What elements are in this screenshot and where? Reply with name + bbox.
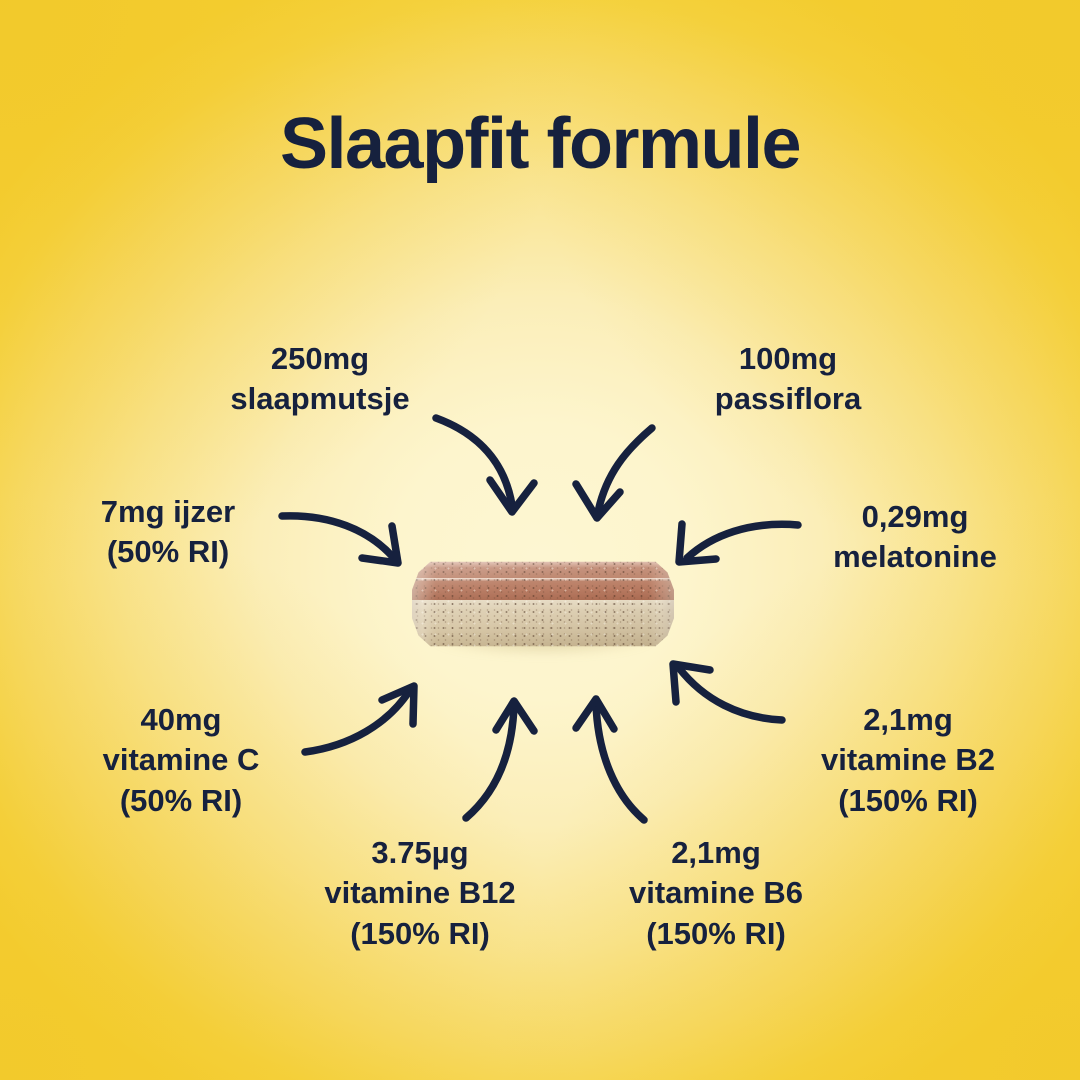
arrow-slaapmutsje — [436, 418, 534, 512]
label-melatonine-line-1: 0,29mg — [796, 497, 1034, 537]
label-passiflora-line-1: 100mg — [660, 339, 916, 379]
label-ijzer-line-1: 7mg ijzer — [50, 492, 286, 532]
page-title: Slaapfit formule — [0, 103, 1080, 185]
label-vitamine-b6-line-2: vitamine B6 — [588, 873, 844, 913]
arrow-passiflora — [576, 428, 652, 518]
label-vitamine-b12-line-1: 3.75µg — [288, 833, 552, 873]
label-vitamine-b6-line-1: 2,1mg — [588, 833, 844, 873]
arrow-ijzer — [282, 516, 398, 563]
label-ijzer-line-2: (50% RI) — [50, 532, 286, 572]
label-slaapmutsje-line-1: 250mg — [184, 339, 456, 379]
label-vitamine-b2-line-2: vitamine B2 — [782, 740, 1034, 780]
label-passiflora: 100mg passiflora — [660, 339, 916, 420]
tablet-body — [412, 560, 674, 648]
label-melatonine: 0,29mg melatonine — [796, 497, 1034, 578]
label-vitamine-b2-line-1: 2,1mg — [782, 700, 1034, 740]
product-tablet — [412, 560, 674, 650]
arrow-vitamine-b6 — [576, 699, 644, 820]
label-vitamine-c-line-2: vitamine C — [58, 740, 304, 780]
label-vitamine-b12-line-3: (150% RI) — [288, 914, 552, 954]
label-ijzer: 7mg ijzer (50% RI) — [50, 492, 286, 573]
label-vitamine-c-line-1: 40mg — [58, 700, 304, 740]
arrow-vitamine-b12 — [466, 701, 534, 818]
label-melatonine-line-2: melatonine — [796, 537, 1034, 577]
label-vitamine-c: 40mg vitamine C (50% RI) — [58, 700, 304, 821]
arrow-melatonine — [679, 524, 798, 562]
label-passiflora-line-2: passiflora — [660, 379, 916, 419]
label-vitamine-b6-line-3: (150% RI) — [588, 914, 844, 954]
label-vitamine-c-line-3: (50% RI) — [58, 781, 304, 821]
arrow-vitamine-b2 — [673, 664, 782, 720]
tablet-sheen — [412, 560, 674, 648]
label-vitamine-b12: 3.75µg vitamine B12 (150% RI) — [288, 833, 552, 954]
label-vitamine-b12-line-2: vitamine B12 — [288, 873, 552, 913]
label-vitamine-b2: 2,1mg vitamine B2 (150% RI) — [782, 700, 1034, 821]
infographic-canvas: Slaapfit formule — [0, 0, 1080, 1080]
label-vitamine-b6: 2,1mg vitamine B6 (150% RI) — [588, 833, 844, 954]
label-vitamine-b2-line-3: (150% RI) — [782, 781, 1034, 821]
label-slaapmutsje-line-2: slaapmutsje — [184, 379, 456, 419]
label-slaapmutsje: 250mg slaapmutsje — [184, 339, 456, 420]
arrow-vitamine-c — [305, 686, 414, 752]
